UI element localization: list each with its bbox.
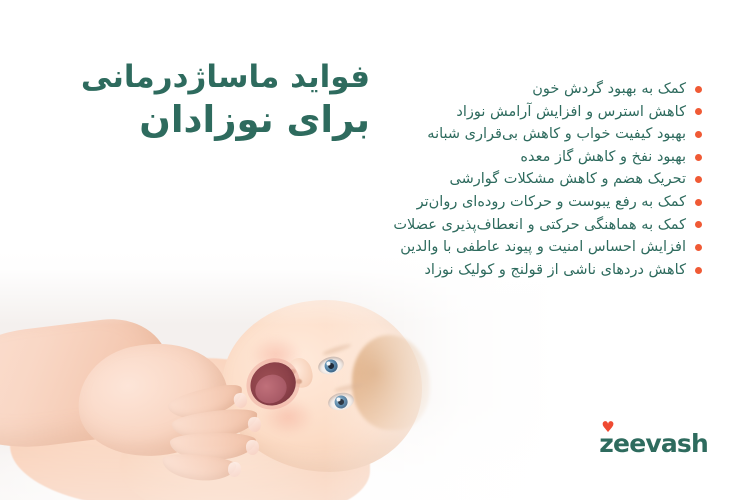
benefit-label: افزایش احساس امنیت و پیوند عاطفی با والد… <box>400 240 686 255</box>
list-item: بهبود کیفیت خواب و کاهش بی‌قراری شبانه <box>282 123 702 146</box>
brand-logo: ♥ zeevash <box>599 431 708 456</box>
benefits-list: کمک به بهبود گردش خون کاهش استرس و افزای… <box>282 78 702 281</box>
list-item: کاهش دردهای ناشی از قولنج و کولیک نوزاد <box>282 259 702 282</box>
list-item: کمک به بهبود گردش خون <box>282 78 702 101</box>
list-item: کاهش استرس و افزایش آرامش نوزاد <box>282 101 702 124</box>
list-item: تحریک هضم و کاهش مشکلات گوارشی <box>282 168 702 191</box>
benefit-label: بهبود نفخ و کاهش گاز معده <box>520 150 686 165</box>
benefit-label: کمک به بهبود گردش خون <box>532 82 686 97</box>
benefit-label: کاهش استرس و افزایش آرامش نوزاد <box>456 105 686 120</box>
benefit-label: کمک به هماهنگی حرکتی و انعطاف‌پذیری عضلا… <box>393 218 686 233</box>
bullet-dot-icon <box>695 108 702 115</box>
list-item: بهبود نفخ و کاهش گاز معده <box>282 146 702 169</box>
baby-hair <box>352 335 430 430</box>
brand-logo-text: zeevash <box>599 429 708 458</box>
bullet-dot-icon <box>695 131 702 138</box>
list-item: کمک به هماهنگی حرکتی و انعطاف‌پذیری عضلا… <box>282 214 702 237</box>
bullet-dot-icon <box>695 199 702 206</box>
benefit-label: تحریک هضم و کاهش مشکلات گوارشی <box>450 172 686 187</box>
brand-logo-wordmark: ♥ zeevash <box>599 431 708 456</box>
poster-canvas: فواید ماساژدرمانی برای نوزادان کمک به به… <box>0 0 750 500</box>
benefit-label: کمک به رفع یبوست و حرکات روده‌ای روان‌تر <box>417 195 686 210</box>
baby-massage-photo <box>0 250 560 500</box>
bullet-dot-icon <box>695 267 702 274</box>
bullet-dot-icon <box>695 244 702 251</box>
benefit-label: بهبود کیفیت خواب و کاهش بی‌قراری شبانه <box>427 127 686 142</box>
bullet-dot-icon <box>695 154 702 161</box>
photo-background <box>0 250 560 500</box>
list-item: کمک به رفع یبوست و حرکات روده‌ای روان‌تر <box>282 191 702 214</box>
heart-icon: ♥ <box>601 420 613 431</box>
list-item: افزایش احساس امنیت و پیوند عاطفی با والد… <box>282 236 702 259</box>
benefit-label: کاهش دردهای ناشی از قولنج و کولیک نوزاد <box>424 263 686 278</box>
bullet-dot-icon <box>695 221 702 228</box>
baby-nostril-a <box>296 379 302 384</box>
bullet-dot-icon <box>695 86 702 93</box>
bullet-dot-icon <box>695 176 702 183</box>
